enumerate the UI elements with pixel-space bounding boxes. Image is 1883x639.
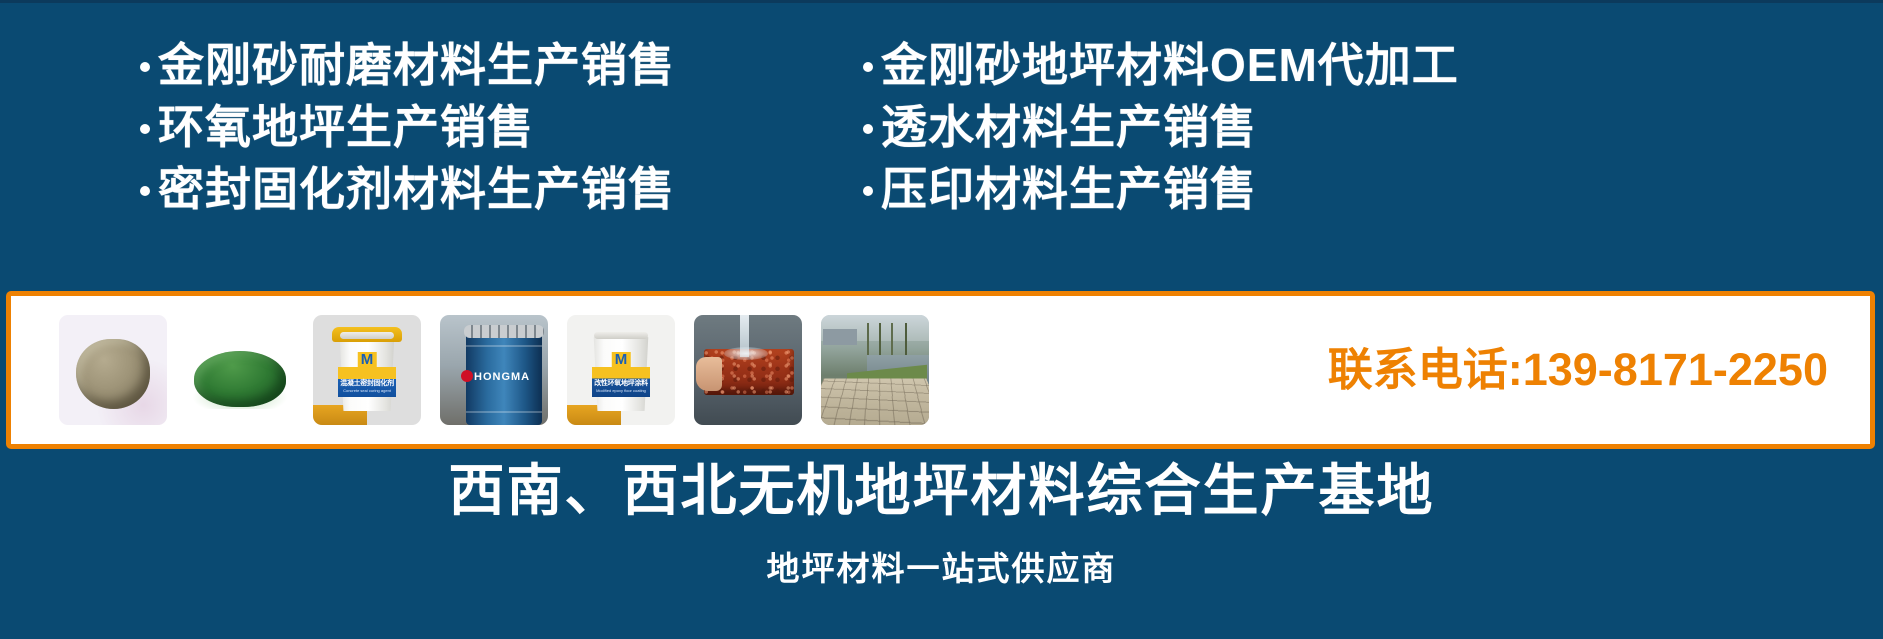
bucket-label: M 改性环氧地坪涂料 Modified epoxy floor coating: [592, 367, 650, 397]
product-thumb-permeable-slab: [694, 315, 802, 425]
feature-label: 环氧地坪生产销售: [158, 99, 534, 155]
feature-item: 金刚砂耐磨材料生产销售: [140, 37, 840, 93]
bullet-icon: [140, 124, 150, 134]
product-thumb-sealer-bucket: M 混凝土密封固化剂 Concrete seal curing agent: [313, 315, 421, 425]
bullet-icon: [140, 62, 150, 72]
bucket-label: M 混凝土密封固化剂 Concrete seal curing agent: [338, 367, 396, 397]
powder-pile-shape: [194, 351, 286, 407]
drum-brand-text: HONGMA: [474, 371, 530, 383]
bucket-label-en: Modified epoxy floor coating: [592, 388, 650, 393]
product-thumbnail-list: M 混凝土密封固化剂 Concrete seal curing agent HO…: [11, 296, 929, 444]
feature-column-right: 金刚砂地坪材料OEM代加工 透水材料生产销售 压印材料生产销售: [863, 37, 1863, 217]
feature-label: 透水材料生产销售: [881, 99, 1257, 155]
product-thumb-stamped-walkway: [821, 315, 929, 425]
building: [823, 329, 857, 345]
hongma-logo-icon: [461, 370, 473, 382]
drum-rim: [464, 325, 544, 338]
footer-subline: 地坪材料一站式供应商: [0, 548, 1883, 590]
product-strip: M 混凝土密封固化剂 Concrete seal curing agent HO…: [6, 291, 1875, 449]
contact-phone[interactable]: 联系电话:139-8171-2250: [1328, 345, 1870, 395]
feature-label: 金刚砂耐磨材料生产销售: [158, 37, 675, 93]
bucket-label-en: Concrete seal curing agent: [338, 388, 396, 393]
stamped-path: [821, 379, 929, 425]
footer-headline: 西南、西北无机地坪材料综合生产基地: [0, 458, 1883, 524]
product-thumb-epoxy-bucket: M 改性环氧地坪涂料 Modified epoxy floor coating: [567, 315, 675, 425]
bucket-lid-inner: [340, 332, 394, 339]
feature-label: 密封固化剂材料生产销售: [158, 161, 675, 217]
feature-item: 透水材料生产销售: [863, 99, 1863, 155]
bucket-lid-inner: [594, 332, 648, 339]
hand: [696, 357, 722, 391]
feature-column-left: 金刚砂耐磨材料生产销售 环氧地坪生产销售 密封固化剂材料生产销售: [140, 37, 840, 217]
feature-item: 金刚砂地坪材料OEM代加工: [863, 37, 1863, 93]
product-thumb-hongma-drum: HONGMA: [440, 315, 548, 425]
feature-label: 压印材料生产销售: [881, 161, 1257, 217]
drum-band-top: [466, 345, 542, 347]
feature-item: 密封固化剂材料生产销售: [140, 161, 840, 217]
bucket-label-cn: 改性环氧地坪涂料: [592, 380, 650, 388]
bullet-icon: [863, 124, 873, 134]
feature-item: 环氧地坪生产销售: [140, 99, 840, 155]
brand-m-icon: M: [358, 352, 377, 367]
brand-m-icon: M: [612, 352, 631, 367]
feature-item: 压印材料生产销售: [863, 161, 1863, 217]
bullet-icon: [140, 186, 150, 196]
bucket-label-cn: 混凝土密封固化剂: [338, 380, 396, 388]
water-splash: [724, 347, 768, 360]
bullet-icon: [863, 186, 873, 196]
bullet-icon: [863, 62, 873, 72]
product-thumb-green-powder: [186, 315, 294, 425]
product-thumb-grey-powder: [59, 315, 167, 425]
feature-lists: 金刚砂耐磨材料生产销售 环氧地坪生产销售 密封固化剂材料生产销售 金刚砂地坪材料…: [0, 37, 1883, 233]
feature-label: 金刚砂地坪材料OEM代加工: [881, 37, 1459, 93]
advertisement-banner: 金刚砂耐磨材料生产销售 环氧地坪生产销售 密封固化剂材料生产销售 金刚砂地坪材料…: [0, 0, 1883, 639]
drum-band-bottom: [466, 411, 542, 413]
powder-pile-shape: [76, 339, 150, 409]
